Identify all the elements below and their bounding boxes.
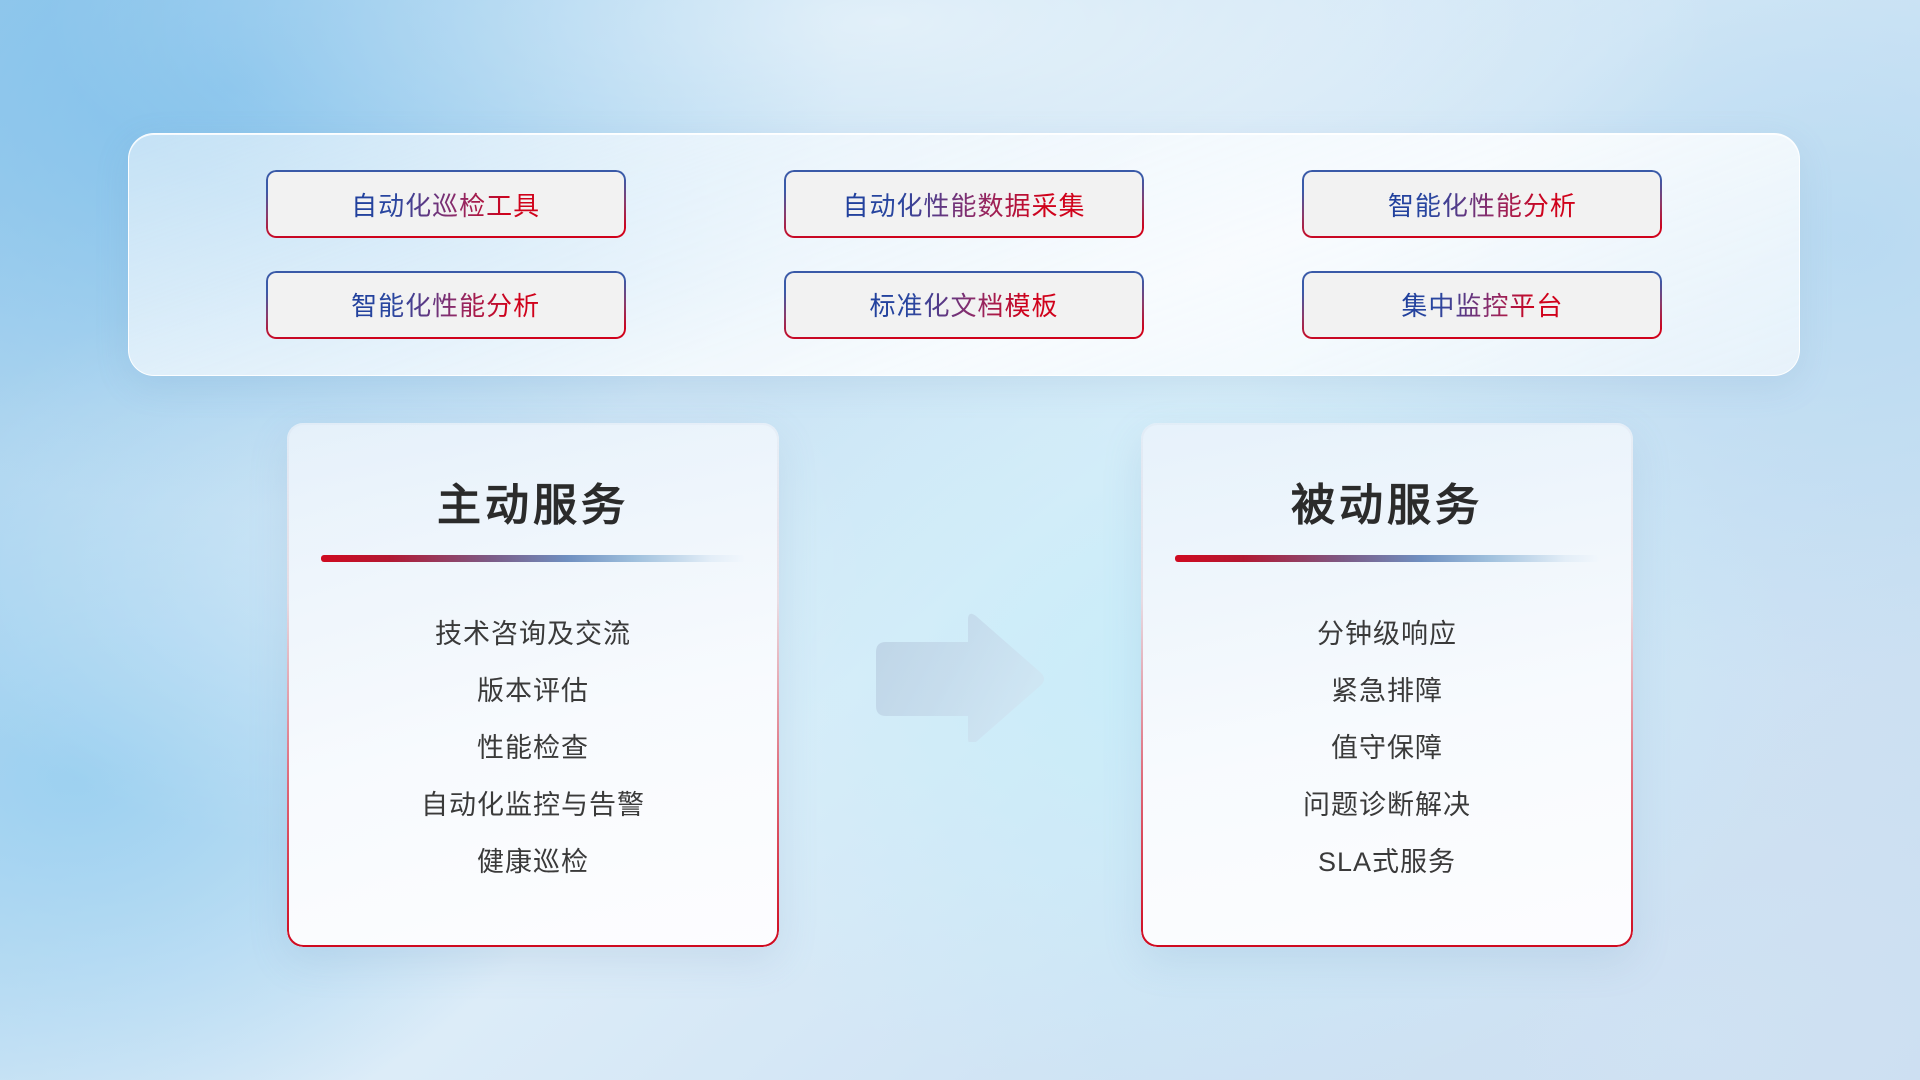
service-list-item: 性能检查 [287, 720, 779, 777]
capability-chip[interactable]: 智能化性能分析 [266, 271, 626, 339]
capability-chip[interactable]: 智能化性能分析 [1302, 170, 1662, 238]
service-card-title: 主动服务 [287, 469, 779, 533]
service-card-active: 主动服务 技术咨询及交流 版本评估 性能检查 自动化监控与告警 健康巡检 [287, 423, 779, 947]
service-item-list: 技术咨询及交流 版本评估 性能检查 自动化监控与告警 健康巡检 [287, 606, 779, 891]
service-list-item: 问题诊断解决 [1141, 777, 1633, 834]
title-underline-rule [321, 555, 745, 562]
service-card-title: 被动服务 [1141, 469, 1633, 533]
service-list-item: 紧急排障 [1141, 663, 1633, 720]
capability-chip-label: 自动化性能数据采集 [842, 186, 1085, 223]
capability-chip-label: 标准化文档模板 [869, 286, 1058, 323]
arrow-right-icon [868, 612, 1048, 742]
service-list-item: 值守保障 [1141, 720, 1633, 777]
capability-chip[interactable]: 自动化性能数据采集 [784, 170, 1144, 238]
capability-chip-label: 集中监控平台 [1401, 286, 1563, 323]
service-list-item: 自动化监控与告警 [287, 777, 779, 834]
slide-stage: 自动化巡检工具 自动化性能数据采集 智能化性能分析 智能化性能分析 标准化文档模… [0, 0, 1920, 1080]
capability-chip-label: 智能化性能分析 [1388, 186, 1577, 223]
service-list-item: SLA式服务 [1141, 834, 1633, 891]
capability-chip[interactable]: 集中监控平台 [1302, 271, 1662, 339]
capability-chip[interactable]: 自动化巡检工具 [266, 170, 626, 238]
service-item-list: 分钟级响应 紧急排障 值守保障 问题诊断解决 SLA式服务 [1141, 606, 1633, 891]
capability-chip[interactable]: 标准化文档模板 [784, 271, 1144, 339]
capability-chip-label: 自动化巡检工具 [351, 186, 540, 223]
capability-chip-label: 智能化性能分析 [351, 286, 540, 323]
service-list-item: 技术咨询及交流 [287, 606, 779, 663]
service-list-item: 版本评估 [287, 663, 779, 720]
service-card-passive: 被动服务 分钟级响应 紧急排障 值守保障 问题诊断解决 SLA式服务 [1141, 423, 1633, 947]
title-underline-rule [1175, 555, 1599, 562]
capability-panel: 自动化巡检工具 自动化性能数据采集 智能化性能分析 智能化性能分析 标准化文档模… [128, 133, 1800, 376]
service-list-item: 健康巡检 [287, 834, 779, 891]
service-list-item: 分钟级响应 [1141, 606, 1633, 663]
